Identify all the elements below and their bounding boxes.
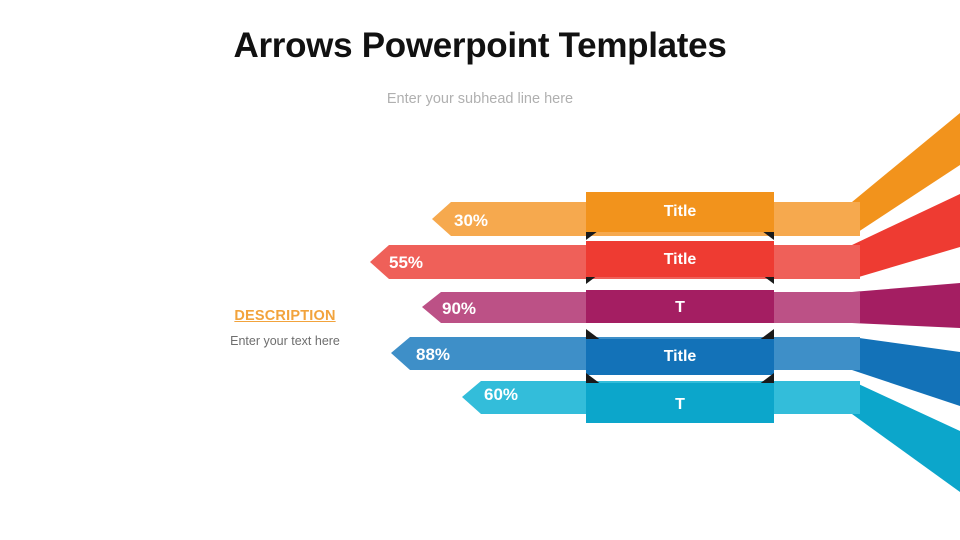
title-label-orange: Title [586, 204, 774, 220]
percent-label-cyan: 60% [484, 386, 518, 403]
title-label-magenta: T [586, 300, 774, 316]
percent-label-red: 55% [389, 254, 423, 271]
slide-canvas: Arrows Powerpoint Templates Enter your s… [0, 0, 960, 540]
arrows-diagram [0, 0, 960, 540]
percent-label-orange: 30% [454, 212, 488, 229]
title-label-blue: Title [586, 349, 774, 365]
ribbon-tail-magenta [852, 283, 960, 328]
title-label-red: Title [586, 252, 774, 268]
percent-label-blue: 88% [416, 346, 450, 363]
title-label-cyan: T [586, 397, 774, 413]
percent-label-magenta: 90% [442, 300, 476, 317]
